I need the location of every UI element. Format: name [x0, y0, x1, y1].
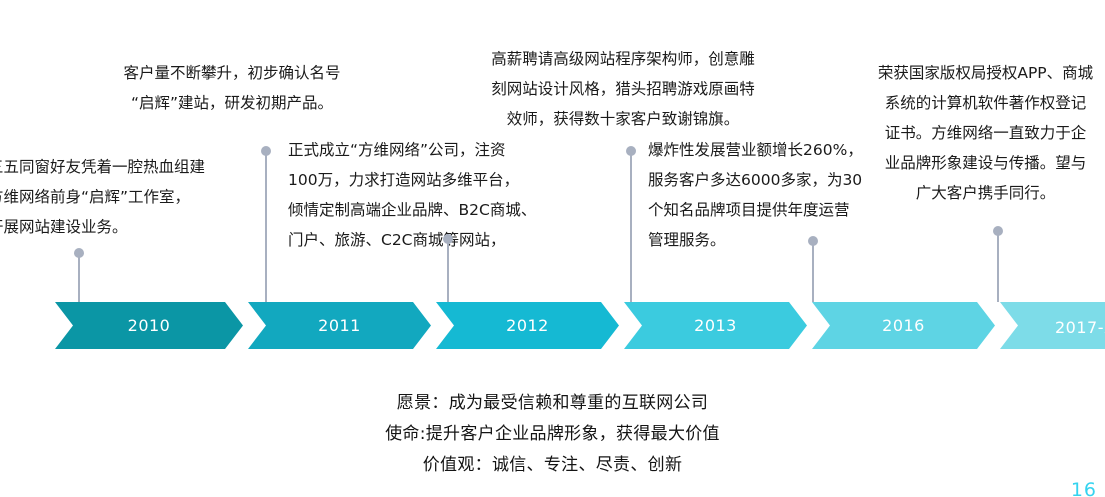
connector-stem-2017 [997, 235, 999, 302]
connector-stem-2011 [265, 155, 267, 302]
description-line: 荣获国家版权局授权APP、商城 [866, 58, 1105, 88]
description-line: 方维网络前身“启辉”工作室， [0, 182, 238, 212]
connector-dot [443, 234, 453, 244]
timeline-year-label: 2010 [128, 316, 171, 335]
timeline-chevron-2013[interactable]: 2013 [624, 302, 807, 349]
timeline-infographic: 三五同窗好友凭着一腔热血组建 方维网络前身“启辉”工作室， 开展网站建设业务。 … [0, 0, 1105, 497]
timeline-chevron-2011[interactable]: 2011 [248, 302, 431, 349]
timeline-chevron-2016[interactable]: 2016 [812, 302, 995, 349]
slogan-values: 价值观：诚信、专注、尽责、创新 [0, 450, 1105, 481]
description-line: 三五同窗好友凭着一腔热血组建 [0, 152, 238, 182]
timeline-year-label: 2016 [882, 316, 925, 335]
description-line: 服务客户多达6000多家，为30 [648, 165, 893, 195]
description-line: 刻网站设计风格，猎头招聘游戏原画特 [458, 74, 788, 104]
milestone-description-2013: 高薪聘请高级网站程序架构师，创意雕 刻网站设计风格，猎头招聘游戏原画特 效师，获… [458, 44, 788, 134]
description-line: 效师，获得数十家客户致谢锦旗。 [458, 104, 788, 134]
connector-stem-2016 [812, 245, 814, 302]
page-number-mark: 16 [1071, 479, 1097, 497]
description-line: 门户、旅游、C2C商城等网站， [288, 225, 588, 255]
connector-dot [261, 146, 271, 156]
milestone-description-2011: 客户量不断攀升，初步确认名号 “启辉”建站，研发初期产品。 [92, 58, 372, 118]
slogan-vision: 愿景：成为最受信赖和尊重的互联网公司 [0, 388, 1105, 419]
description-line: 管理服务。 [648, 225, 893, 255]
description-line: 倾情定制高端企业品牌、B2C商城、 [288, 195, 588, 225]
timeline-chevron-2017[interactable]: 2017-未来 [1000, 302, 1105, 349]
description-line: 正式成立“方维网络”公司，注资 [288, 135, 588, 165]
description-line: 100万，力求打造网站多维平台， [288, 165, 588, 195]
description-line: 系统的计算机软件著作权登记 [866, 88, 1105, 118]
milestone-description-2017: 荣获国家版权局授权APP、商城 系统的计算机软件著作权登记 证书。方维网络一直致… [866, 58, 1105, 208]
description-line: 个知名品牌项目提供年度运营 [648, 195, 893, 225]
connector-dot [626, 146, 636, 156]
connector-dot [808, 236, 818, 246]
milestone-description-2012: 正式成立“方维网络”公司，注资 100万，力求打造网站多维平台， 倾情定制高端企… [288, 135, 588, 255]
description-line: 证书。方维网络一直致力于企 [866, 118, 1105, 148]
description-line: 爆炸性发展营业额增长260%， [648, 135, 893, 165]
connector-dot [74, 248, 84, 258]
timeline-year-label: 2017-未来 [1055, 314, 1105, 338]
slogan-mission: 使命:提升客户企业品牌形象，获得最大价值 [0, 419, 1105, 450]
description-line: 高薪聘请高级网站程序架构师，创意雕 [458, 44, 788, 74]
description-line: 客户量不断攀升，初步确认名号 [92, 58, 372, 88]
description-line: 广大客户携手同行。 [866, 178, 1105, 208]
timeline-chevron-2012[interactable]: 2012 [436, 302, 619, 349]
timeline-year-label: 2012 [506, 316, 549, 335]
connector-stem-2010 [78, 257, 80, 302]
connector-dot [993, 226, 1003, 236]
connector-stem-2012 [447, 243, 449, 302]
description-line: “启辉”建站，研发初期产品。 [92, 88, 372, 118]
slogan-block: 愿景：成为最受信赖和尊重的互联网公司 使命:提升客户企业品牌形象，获得最大价值 … [0, 388, 1105, 481]
connector-stem-2013 [630, 155, 632, 302]
timeline-band: 2010 2011 2012 2013 2016 2017-未来 [55, 302, 1105, 349]
milestone-description-2016: 爆炸性发展营业额增长260%， 服务客户多达6000多家，为30 个知名品牌项目… [648, 135, 893, 255]
description-line: 业品牌形象建设与传播。望与 [866, 148, 1105, 178]
timeline-year-label: 2011 [318, 316, 361, 335]
timeline-year-label: 2013 [694, 316, 737, 335]
description-line: 开展网站建设业务。 [0, 212, 238, 242]
milestone-description-2010: 三五同窗好友凭着一腔热血组建 方维网络前身“启辉”工作室， 开展网站建设业务。 [0, 152, 238, 242]
timeline-chevron-2010[interactable]: 2010 [55, 302, 243, 349]
